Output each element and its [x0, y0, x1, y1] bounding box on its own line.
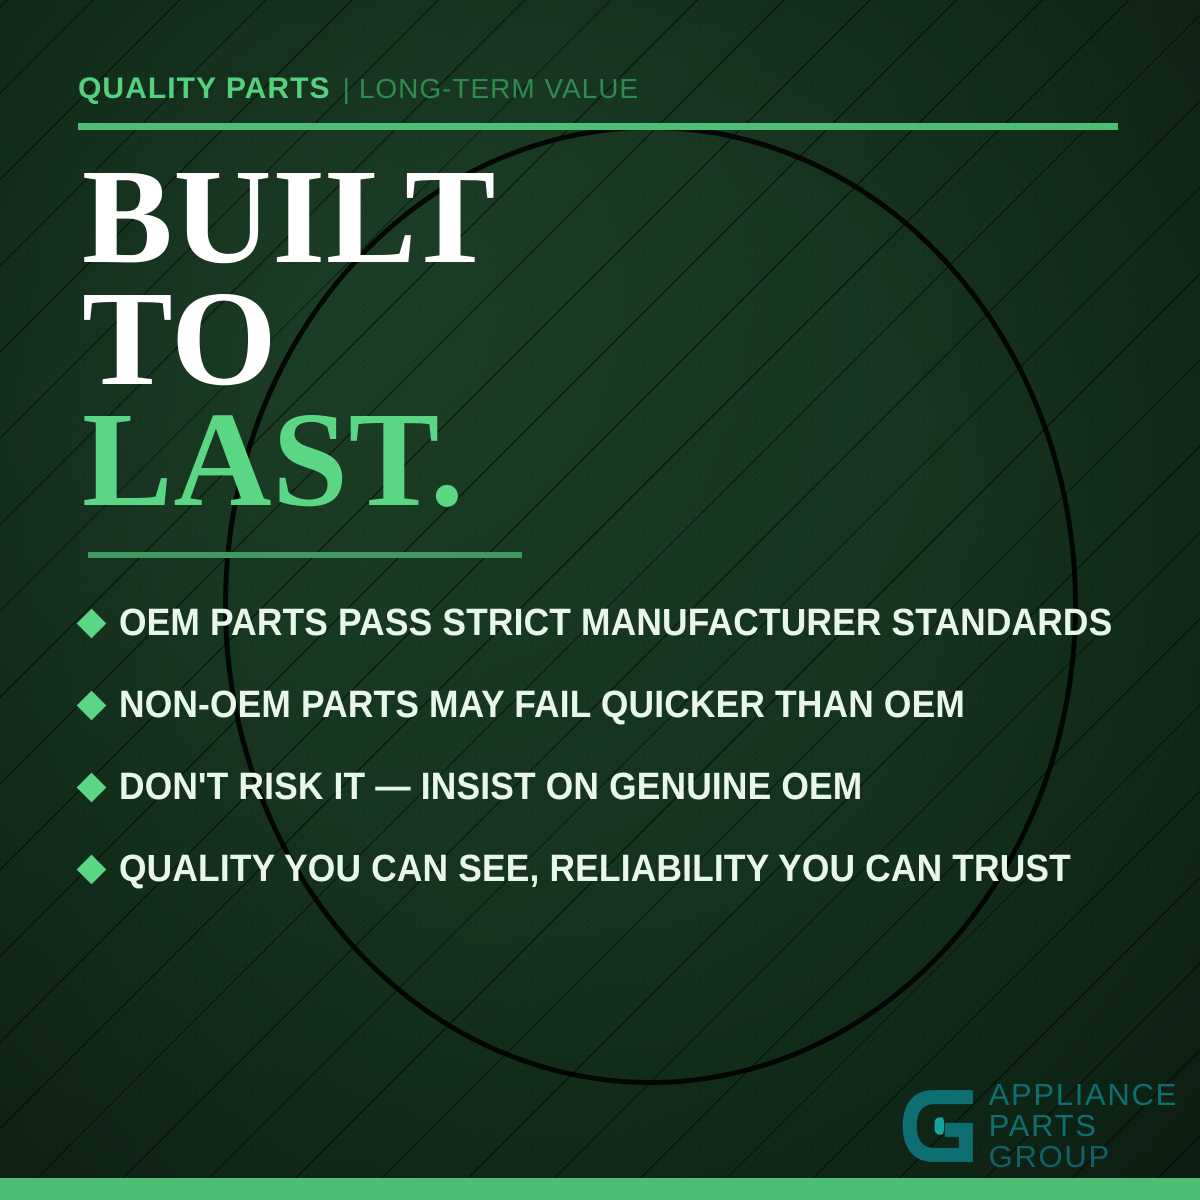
eyebrow-strong-text: QUALITY PARTS: [78, 72, 331, 106]
list-item: DON'T RISK IT — INSIST ON GENUINE OEM: [78, 746, 1148, 828]
diamond-bullet-icon: [77, 854, 107, 884]
diamond-bullet-icon: [77, 690, 107, 720]
headline-line-1: BUILT: [82, 158, 496, 278]
header: QUALITY PARTS | LONG-TERM VALUE: [78, 72, 1122, 130]
eyebrow-light-text: LONG-TERM VALUE: [359, 73, 639, 105]
logo-line-1: APPLIANCE: [989, 1079, 1178, 1110]
logo-line-3: GROUP: [989, 1141, 1178, 1172]
brand-logo-wordmark: APPLIANCE PARTS GROUP: [989, 1079, 1178, 1172]
list-item: QUALITY YOU CAN SEE, RELIABILITY YOU CAN…: [78, 828, 1148, 910]
list-item: NON-OEM PARTS MAY FAIL QUICKER THAN OEM: [78, 664, 1148, 746]
poster-canvas: QUALITY PARTS | LONG-TERM VALUE BUILT TO…: [0, 0, 1200, 1200]
eyebrow-separator: |: [331, 73, 359, 105]
headline-divider-rule: [88, 552, 522, 558]
headline-line-2: TO: [82, 280, 496, 400]
eyebrow-line: QUALITY PARTS | LONG-TERM VALUE: [78, 72, 1122, 106]
bottom-accent-bar: [0, 1178, 1200, 1200]
logo-line-2: PARTS: [989, 1110, 1178, 1141]
brand-logo: APPLIANCE PARTS GROUP: [898, 1079, 1178, 1172]
diamond-bullet-icon: [77, 608, 107, 638]
benefits-list: OEM PARTS PASS STRICT MANUFACTURER STAND…: [78, 582, 1148, 910]
list-item-label: NON-OEM PARTS MAY FAIL QUICKER THAN OEM: [119, 684, 965, 727]
diamond-bullet-icon: [77, 772, 107, 802]
list-item-label: DON'T RISK IT — INSIST ON GENUINE OEM: [119, 766, 862, 809]
header-divider-rule: [78, 123, 1118, 130]
headline-line-3: LAST.: [82, 401, 496, 521]
list-item-label: OEM PARTS PASS STRICT MANUFACTURER STAND…: [119, 602, 1112, 645]
list-item: OEM PARTS PASS STRICT MANUFACTURER STAND…: [78, 582, 1148, 664]
appliance-parts-group-g-icon: [898, 1087, 976, 1165]
list-item-label: QUALITY YOU CAN SEE, RELIABILITY YOU CAN…: [119, 848, 1071, 891]
page-title: BUILT TO LAST.: [82, 158, 496, 521]
